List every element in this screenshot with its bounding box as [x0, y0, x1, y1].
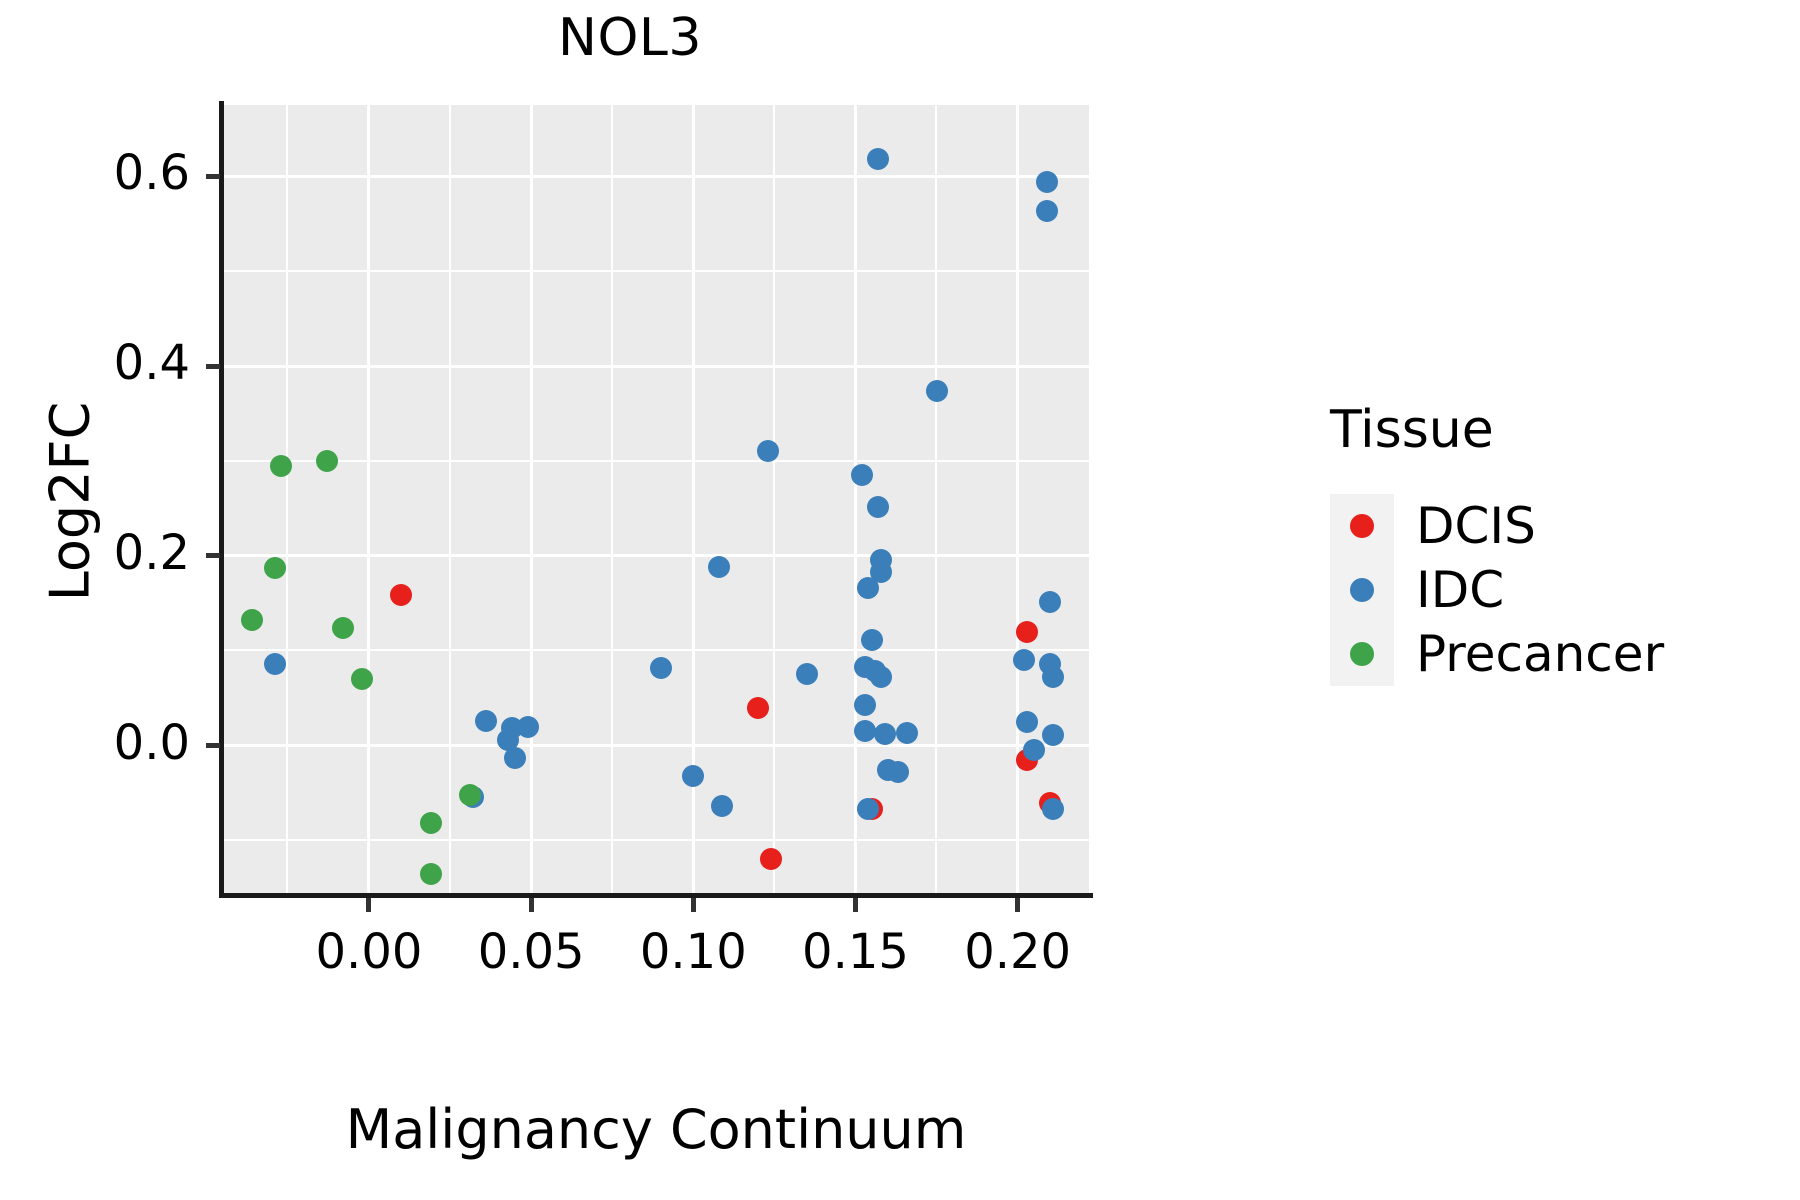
data-point-precancer [420, 812, 442, 834]
data-point-idc [517, 716, 539, 738]
data-point-idc [1042, 798, 1064, 820]
gridline-y-minor [223, 649, 1089, 651]
gridline-x-minor [611, 105, 613, 893]
x-tick-mark [529, 898, 534, 912]
data-point-idc [874, 723, 896, 745]
gridline-x-major [530, 105, 533, 893]
y-tick-mark [206, 553, 220, 558]
legend-item-dcis[interactable]: DCIS [1330, 494, 1664, 558]
y-tick-label: 0.4 [30, 335, 190, 391]
legend-item-precancer[interactable]: Precancer [1330, 622, 1664, 686]
legend: Tissue DCISIDCPrecancer [1330, 400, 1664, 686]
legend-item-idc[interactable]: IDC [1330, 558, 1664, 622]
data-point-precancer [459, 784, 481, 806]
data-point-idc [757, 440, 779, 462]
data-point-idc [896, 722, 918, 744]
legend-key-swatch [1330, 622, 1394, 686]
y-tick-label: 0.0 [30, 715, 190, 771]
y-tick-mark [206, 743, 220, 748]
data-point-idc [264, 653, 286, 675]
plot-panel [223, 105, 1089, 893]
data-point-idc [926, 380, 948, 402]
data-point-idc [857, 798, 879, 820]
gridline-x-major [854, 105, 857, 893]
legend-point-icon [1350, 642, 1374, 666]
data-point-precancer [316, 450, 338, 472]
data-point-idc [796, 663, 818, 685]
legend-item-label: Precancer [1416, 625, 1664, 683]
y-axis-line [219, 101, 224, 897]
y-tick-mark [206, 364, 220, 369]
data-point-idc [1036, 200, 1058, 222]
x-tick-mark [853, 898, 858, 912]
data-point-precancer [420, 863, 442, 885]
data-point-idc [1039, 591, 1061, 613]
data-point-precancer [241, 609, 263, 631]
gridline-y-major [223, 175, 1089, 178]
data-point-idc [861, 629, 883, 651]
data-point-idc [1023, 739, 1045, 761]
legend-point-icon [1350, 514, 1374, 538]
y-axis-label: Log2FC [39, 102, 102, 902]
data-point-idc [711, 795, 733, 817]
y-tick-label: 0.6 [30, 145, 190, 201]
data-point-idc [1036, 171, 1058, 193]
data-point-idc [854, 720, 876, 742]
legend-point-icon [1350, 578, 1374, 602]
x-axis-line [219, 893, 1093, 898]
gridline-y-minor [223, 839, 1089, 841]
gridline-x-minor [773, 105, 775, 893]
legend-title: Tissue [1330, 400, 1664, 460]
x-axis-label: Malignancy Continuum [223, 1098, 1089, 1161]
x-tick-mark [691, 898, 696, 912]
gridline-x-major [1016, 105, 1019, 893]
gridline-y-minor [223, 460, 1089, 462]
x-tick-label: 0.20 [918, 924, 1118, 980]
data-point-idc [870, 666, 892, 688]
data-point-idc [867, 496, 889, 518]
gridline-y-minor [223, 270, 1089, 272]
gridline-x-major [367, 105, 370, 893]
gridline-x-minor [449, 105, 451, 893]
data-point-precancer [270, 455, 292, 477]
x-tick-mark [366, 898, 371, 912]
legend-item-label: IDC [1416, 561, 1504, 619]
x-tick-mark [1015, 898, 1020, 912]
data-point-idc [1042, 666, 1064, 688]
legend-items: DCISIDCPrecancer [1330, 494, 1664, 686]
chart-root: NOL3 Log2FC Malignancy Continuum 0.000.0… [0, 0, 1800, 1200]
chart-title: NOL3 [0, 8, 1260, 68]
y-tick-mark [206, 174, 220, 179]
data-point-dcis [747, 697, 769, 719]
data-point-idc [504, 747, 526, 769]
gridline-y-major [223, 744, 1089, 747]
data-point-idc [650, 657, 672, 679]
legend-item-label: DCIS [1416, 497, 1536, 555]
legend-key-swatch [1330, 558, 1394, 622]
legend-key-swatch [1330, 494, 1394, 558]
gridline-y-major [223, 554, 1089, 557]
gridline-x-minor [286, 105, 288, 893]
gridline-y-major [223, 365, 1089, 368]
data-point-precancer [332, 617, 354, 639]
data-point-idc [475, 710, 497, 732]
data-point-idc [887, 761, 909, 783]
y-tick-label: 0.2 [30, 525, 190, 581]
data-point-dcis [760, 848, 782, 870]
gridline-x-minor [935, 105, 937, 893]
